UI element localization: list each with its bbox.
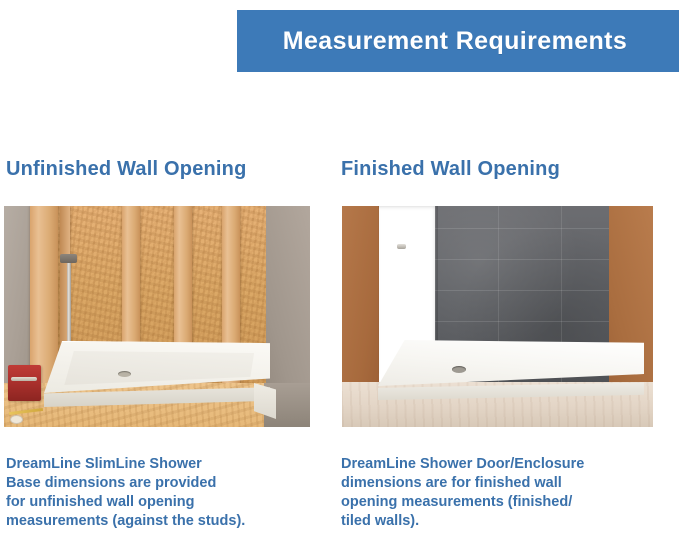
photo-unfinished-wall-opening — [4, 206, 310, 427]
shower-head-icon — [397, 244, 406, 249]
finished-wall-scene — [342, 206, 653, 427]
pipe-bracket — [60, 254, 77, 263]
drain-icon — [452, 366, 466, 373]
page-title: Measurement Requirements — [283, 27, 633, 56]
parts-cup — [10, 415, 23, 424]
drain-icon — [118, 371, 131, 377]
header-banner: Measurement Requirements — [237, 10, 679, 72]
caption-finished: DreamLine Shower Door/Enclosure dimensio… — [341, 455, 651, 531]
base-deck — [378, 340, 644, 386]
caption-unfinished: DreamLine SlimLine Shower Base dimension… — [6, 455, 306, 531]
unfinished-wall-scene — [4, 206, 310, 427]
measurement-requirements-page: Measurement Requirements Unfinished Wall… — [0, 0, 679, 540]
column-heading-unfinished: Unfinished Wall Opening — [6, 158, 247, 181]
red-toolbox — [8, 365, 41, 401]
gray-drywall-right — [266, 206, 310, 409]
slimline-shower-base — [44, 341, 270, 407]
shower-base — [378, 340, 644, 400]
tan-painted-wall-left — [342, 206, 379, 388]
photo-finished-wall-opening — [342, 206, 653, 427]
toolbox-handle — [11, 377, 37, 381]
column-heading-finished: Finished Wall Opening — [341, 158, 560, 181]
